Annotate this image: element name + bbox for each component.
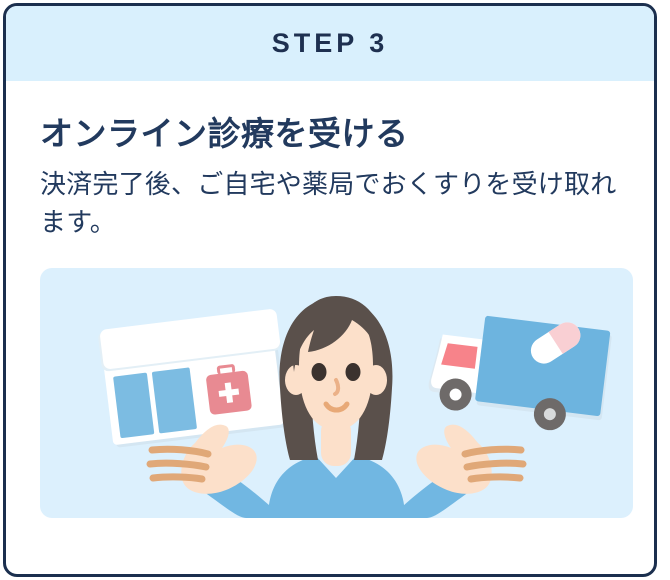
description-text: 決済完了後、ご自宅や薬局でおくすりを受け取れます。 [40, 154, 620, 241]
woman-eye-right [346, 363, 361, 381]
illustration-panel [40, 268, 633, 518]
pharmacy-storefront [97, 308, 290, 448]
illustration-svg [40, 268, 633, 518]
step-card: STEP 3 オンライン診療を受ける 決済完了後、ご自宅や薬局でおくすりを受け取… [3, 3, 657, 577]
delivery-truck [425, 301, 614, 436]
woman-eye-left [312, 363, 327, 381]
step-header: STEP 3 [6, 6, 654, 81]
step-body: オンライン診療を受ける 決済完了後、ご自宅や薬局でおくすりを受け取れます。 [6, 81, 654, 518]
page-title: オンライン診療を受ける [40, 81, 620, 154]
step-label: STEP 3 [272, 30, 389, 57]
